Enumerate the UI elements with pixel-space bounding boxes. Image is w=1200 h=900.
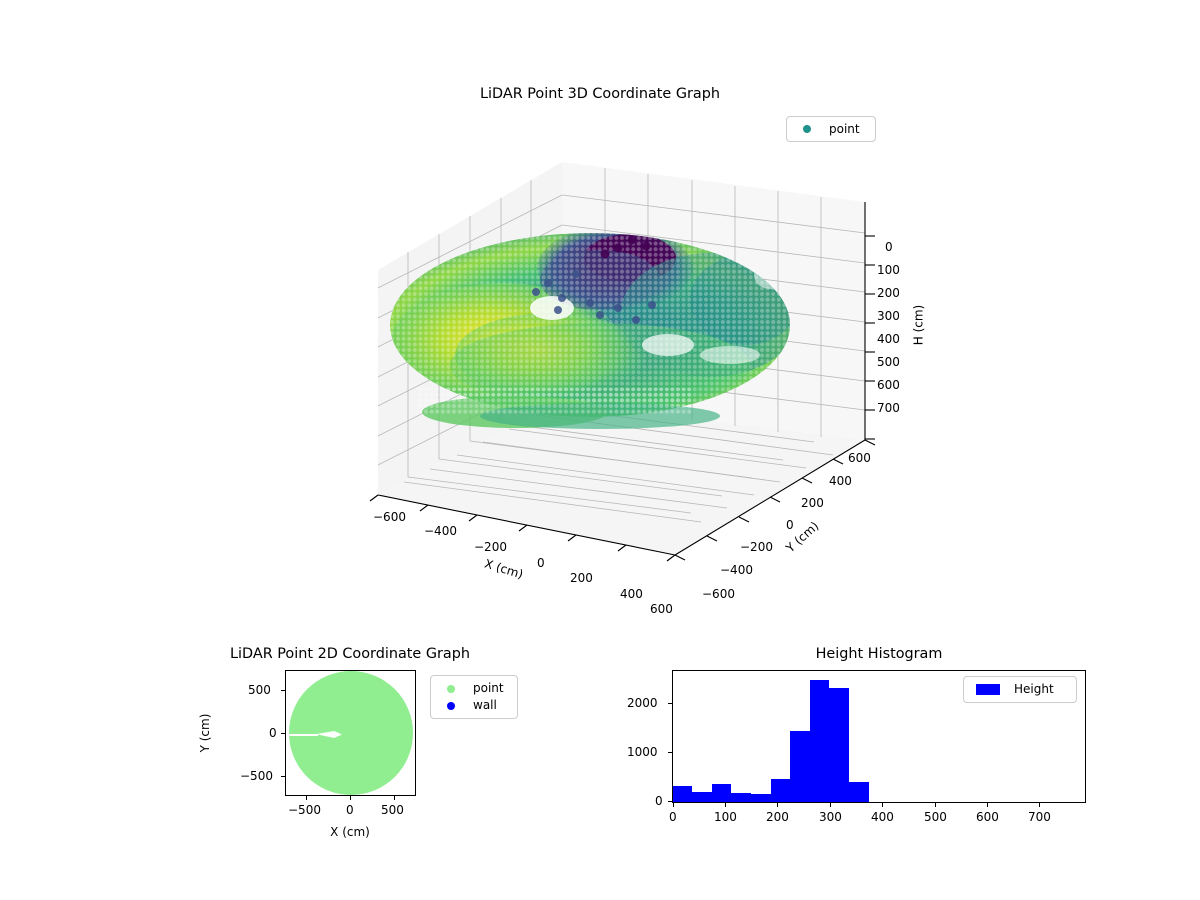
yhist-tick-1: 1000 [627, 745, 658, 759]
chart-hist-legend[interactable]: Height [963, 676, 1077, 703]
point-cloud-2d [289, 671, 413, 795]
x2d-axis-label: X (cm) [330, 825, 370, 839]
yhist-tickmark-1000 [668, 752, 672, 753]
x3d-tick-5: 400 [620, 587, 643, 601]
y2d-tickmark-0 [281, 733, 285, 734]
z3d-tick-3: 300 [877, 309, 900, 323]
x3d-tick-6: 600 [650, 602, 673, 616]
xhist-tick-7: 700 [1028, 810, 1051, 824]
x2d-tickmark-500 [394, 796, 395, 800]
y2d-axis-label: Y (cm) [198, 714, 212, 753]
x3d-tick-3: 0 [537, 556, 545, 570]
z3d-tick-0: 0 [885, 240, 893, 254]
x3d-tick-0: −600 [373, 510, 406, 524]
axes-2d[interactable] [285, 670, 416, 796]
legend-label-point: point [829, 121, 860, 138]
hist-bar [712, 784, 731, 802]
xhist-tickmark-700 [1039, 803, 1040, 807]
hist-bar [790, 731, 809, 802]
yhist-tickmark-2000 [668, 703, 672, 704]
x2d-tick-2: 500 [381, 803, 404, 817]
chart-2d-title: LiDAR Point 2D Coordinate Graph [230, 646, 470, 662]
y2d-tick-2: 500 [248, 683, 271, 697]
xhist-tick-3: 300 [819, 810, 842, 824]
y3d-tick-2: −200 [740, 540, 773, 554]
z3d-tick-2: 200 [877, 286, 900, 300]
chart-3d-legend[interactable]: point [786, 116, 876, 142]
y3d-tick-3: 0 [786, 518, 794, 532]
hist-bar [810, 680, 830, 802]
x3d-tick-1: −400 [424, 524, 457, 538]
xhist-tickmark-400 [882, 803, 883, 807]
legend-label-wall: wall [473, 697, 497, 714]
xhist-tick-5: 500 [924, 810, 947, 824]
hist-bar [849, 782, 869, 802]
hist-bar [829, 688, 848, 802]
y3d-tick-1: −400 [720, 563, 753, 577]
y2d-tick-0: −500 [240, 769, 273, 783]
xhist-tickmark-0 [673, 803, 674, 807]
hist-bar [673, 786, 692, 802]
xhist-tick-6: 600 [976, 810, 999, 824]
z3d-axis-label: H (cm) [911, 305, 925, 346]
xhist-tickmark-100 [725, 803, 726, 807]
y3d-tick-5: 400 [829, 474, 852, 488]
wall-marker-icon [447, 702, 455, 710]
xhist-tickmark-500 [935, 803, 936, 807]
x3d-tick-4: 200 [570, 571, 593, 585]
y2d-tickmark-500 [281, 690, 285, 691]
yhist-tick-0: 0 [655, 794, 663, 808]
xhist-tickmark-600 [987, 803, 988, 807]
matplotlib-figure: LiDAR Point 3D Coordinate Graph point [0, 0, 1200, 900]
hist-bar [692, 792, 712, 802]
hist-bar [731, 793, 751, 802]
x2d-tick-1: 0 [346, 803, 354, 817]
point-cloud-2d-gap-thin [288, 734, 318, 736]
hist-bar [751, 794, 770, 802]
x2d-tickmark-neg500 [306, 796, 307, 800]
z3d-tick-5: 500 [877, 355, 900, 369]
legend-item-height: Height [972, 681, 1068, 698]
xhist-tick-2: 200 [766, 810, 789, 824]
point-marker-icon [803, 125, 811, 133]
hist-bar [771, 779, 791, 802]
axes-3d-canvas [300, 140, 920, 630]
point-marker-icon [447, 685, 455, 693]
legend-label-height: Height [1014, 681, 1054, 698]
yhist-tick-2: 2000 [627, 696, 658, 710]
legend-item-wall: wall [439, 697, 509, 714]
y2d-tick-1: 0 [269, 726, 277, 740]
z3d-tick-4: 400 [877, 332, 900, 346]
y3d-tick-0: −600 [702, 587, 735, 601]
legend-item-point: point [795, 121, 867, 138]
z3d-tick-7: 700 [877, 401, 900, 415]
xhist-tickmark-200 [777, 803, 778, 807]
y3d-tick-6: 600 [848, 451, 871, 465]
xhist-tickmark-300 [830, 803, 831, 807]
x2d-tickmark-0 [350, 796, 351, 800]
xhist-tick-4: 400 [871, 810, 894, 824]
chart-3d-title: LiDAR Point 3D Coordinate Graph [480, 86, 720, 102]
z3d-tick-6: 600 [877, 378, 900, 392]
y3d-tick-4: 200 [801, 496, 824, 510]
legend-label-point: point [473, 680, 504, 697]
chart-hist-title: Height Histogram [816, 646, 943, 662]
y2d-tickmark-neg500 [281, 776, 285, 777]
x3d-tick-2: −200 [474, 540, 507, 554]
axes-3d[interactable] [300, 140, 920, 630]
yhist-tickmark-0 [668, 801, 672, 802]
z3d-tick-1: 100 [877, 263, 900, 277]
chart-2d-legend[interactable]: point wall [430, 675, 518, 719]
legend-item-point: point [439, 680, 509, 697]
xhist-tick-0: 0 [669, 810, 677, 824]
xhist-tick-1: 100 [714, 810, 737, 824]
height-patch-icon [976, 684, 1000, 695]
x2d-tick-0: −500 [288, 803, 321, 817]
